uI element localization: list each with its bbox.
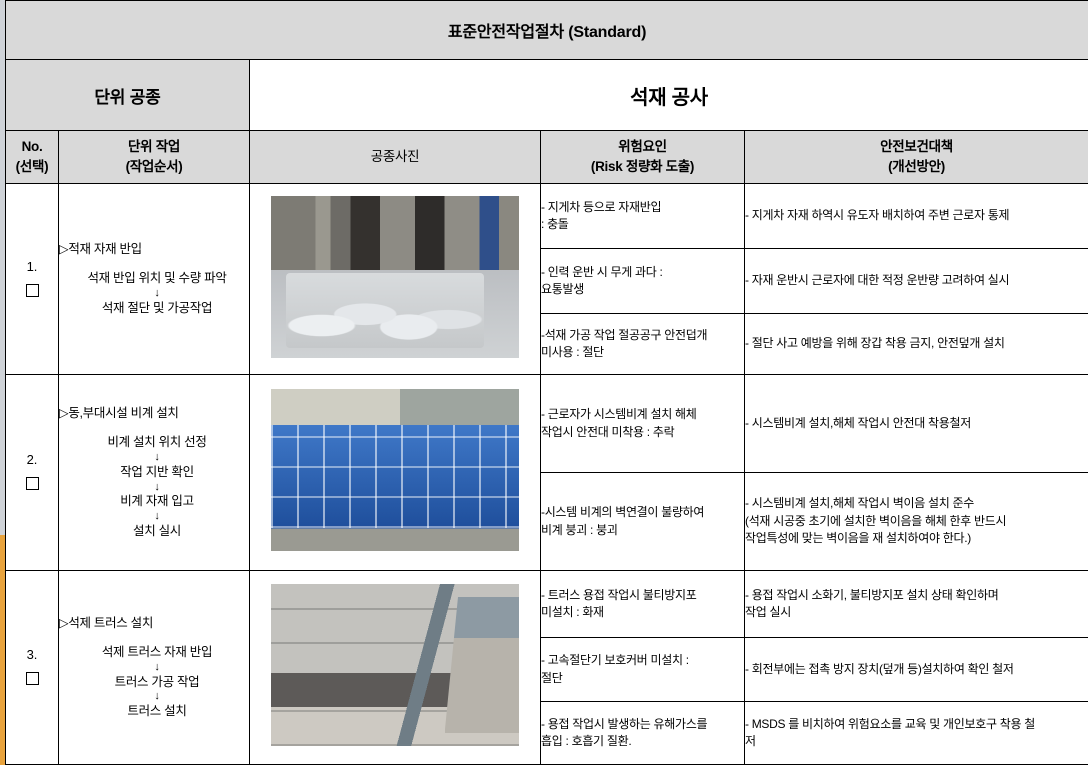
standard-safety-procedure-table: 표준안전작업절차 (Standard) 단위 공종 석재 공사 No. (선택)… bbox=[5, 0, 1088, 765]
row-number: 1. bbox=[6, 259, 58, 274]
step-item: 트러스 설치 bbox=[65, 703, 249, 720]
row-no-2[interactable]: 2. bbox=[6, 375, 59, 571]
process-photo-1 bbox=[250, 184, 541, 375]
col-header-measures-line1: 안전보건대책 bbox=[745, 137, 1088, 157]
measure-item-3-2: - 회전부에는 접촉 방지 장치(덮개 등)설치하여 확인 철저 bbox=[745, 638, 1088, 702]
unit-task-steps-1: ▷적재 자재 반입 석재 반입 위치 및 수량 파악 ↓ 석재 절단 및 가공작… bbox=[59, 184, 250, 375]
col-header-no: No. (선택) bbox=[6, 131, 59, 184]
unit-task-steps-3: ▷석제 트러스 설치 석제 트러스 자재 반입 ↓ 트러스 가공 작업 ↓ 트러… bbox=[59, 571, 250, 765]
measure-line: - 용접 작업시 소화기, 불티방지포 설치 상태 확인하며 bbox=[745, 587, 1088, 604]
measure-line: - 회전부에는 접촉 방지 장치(덮개 등)설치하여 확인 철저 bbox=[745, 661, 1088, 678]
col-header-risk-line1: 위험요인 bbox=[541, 137, 744, 157]
risk-line: - 지게차 등으로 자재반입 bbox=[541, 199, 744, 216]
row-select-checkbox[interactable] bbox=[26, 672, 39, 685]
measure-line: - 시스템비계 설치,해체 작업시 벽이음 설치 준수 bbox=[745, 495, 1088, 512]
risk-line: 작업시 안전대 미착용 : 추락 bbox=[541, 424, 744, 441]
down-arrow-icon: ↓ bbox=[65, 661, 249, 674]
risk-item-2-1: - 근로자가 시스템비계 설치 해체 작업시 안전대 미착용 : 추락 bbox=[541, 375, 745, 473]
down-arrow-icon: ↓ bbox=[65, 287, 249, 300]
spreadsheet-viewport: 표준안전작업절차 (Standard) 단위 공종 석재 공사 No. (선택)… bbox=[0, 0, 1088, 765]
step-item: 트러스 가공 작업 bbox=[65, 674, 249, 691]
risk-line: 미사용 : 절단 bbox=[541, 344, 744, 361]
step-heading: ▷적재 자재 반입 bbox=[59, 241, 249, 258]
measure-line: - 자재 운반시 근로자에 대한 적정 운반량 고려하여 실시 bbox=[745, 272, 1088, 289]
risk-line: - 고속절단기 보호커버 미설치 : bbox=[541, 652, 744, 669]
risk-line: - 트러스 용접 작업시 불티방지포 bbox=[541, 587, 744, 604]
risk-item-1-3: -석재 가공 작업 절공공구 안전덥개 미사용 : 절단 bbox=[541, 314, 745, 375]
step-heading: ▷석제 트러스 설치 bbox=[59, 615, 249, 632]
col-header-risk: 위험요인 (Risk 정량화 도출) bbox=[541, 131, 745, 184]
risk-line: : 충돌 bbox=[541, 216, 744, 233]
row-no-3[interactable]: 3. bbox=[6, 571, 59, 765]
col-header-risk-line2: (Risk 정량화 도출) bbox=[541, 157, 744, 177]
col-header-unit-task-line2: (작업순서) bbox=[59, 157, 249, 177]
row-number: 2. bbox=[6, 452, 58, 467]
risk-line: 흡입 : 호흡기 질환. bbox=[541, 733, 744, 750]
measure-line: 작업 실시 bbox=[745, 604, 1088, 621]
col-header-no-line1: No. bbox=[6, 137, 58, 157]
measure-line: - 시스템비계 설치,해체 작업시 안전대 착용철저 bbox=[745, 415, 1088, 432]
row-number: 3. bbox=[6, 647, 58, 662]
stone-material-pallets-photo bbox=[271, 196, 519, 358]
step-heading: ▷동,부대시설 비계 설치 bbox=[59, 405, 249, 422]
risk-item-3-1: - 트러스 용접 작업시 불티방지포 미설치 : 화재 bbox=[541, 571, 745, 638]
measure-line: - 절단 사고 예방을 위해 장갑 착용 금지, 안전덮개 설치 bbox=[745, 335, 1088, 352]
table-row: 1. ▷적재 자재 반입 석재 반입 위치 및 수량 파악 ↓ 석재 절단 및 … bbox=[6, 184, 1088, 249]
table-row: 2. ▷동,부대시설 비계 설치 비계 설치 위치 선정 ↓ 작업 지반 확인 … bbox=[6, 375, 1088, 473]
measure-line: - 지게차 자재 하역시 유도자 배치하여 주변 근로자 통제 bbox=[745, 207, 1088, 224]
work-name-value: 석재 공사 bbox=[250, 60, 1088, 131]
risk-line: -석재 가공 작업 절공공구 안전덥개 bbox=[541, 327, 744, 344]
measure-item-1-1: - 지게차 자재 하역시 유도자 배치하여 주변 근로자 통제 bbox=[745, 184, 1088, 249]
col-header-measures-line2: (개선방안) bbox=[745, 157, 1088, 177]
col-header-measures: 안전보건대책 (개선방안) bbox=[745, 131, 1088, 184]
step-item: 석재 반입 위치 및 수량 파악 bbox=[65, 270, 249, 287]
unit-process-label: 단위 공종 bbox=[6, 60, 250, 131]
measure-line: (석재 시공중 초기에 설치한 벽이음을 해체 한후 반드시 bbox=[745, 513, 1088, 530]
scroll-position-marker[interactable] bbox=[0, 535, 5, 765]
row-no-1[interactable]: 1. bbox=[6, 184, 59, 375]
step-flow: 석재 반입 위치 및 수량 파악 ↓ 석재 절단 및 가공작업 bbox=[59, 270, 249, 316]
measure-item-1-3: - 절단 사고 예방을 위해 장갑 착용 금지, 안전덮개 설치 bbox=[745, 314, 1088, 375]
col-header-photo: 공종사진 bbox=[250, 131, 541, 184]
step-item: 석재 절단 및 가공작업 bbox=[65, 300, 249, 317]
step-item: 설치 실시 bbox=[65, 523, 249, 540]
col-header-unit-task: 단위 작업 (작업순서) bbox=[59, 131, 250, 184]
page-title: 표준안전작업절차 (Standard) bbox=[6, 1, 1088, 60]
process-photo-2 bbox=[250, 375, 541, 571]
row-select-checkbox[interactable] bbox=[26, 477, 39, 490]
risk-item-1-2: - 인력 운반 시 무게 과다 : 요통발생 bbox=[541, 249, 745, 314]
risk-item-2-2: -시스템 비계의 벽연결이 불량하여 비계 붕괴 : 붕괴 bbox=[541, 473, 745, 571]
step-item: 석제 트러스 자재 반입 bbox=[65, 644, 249, 661]
measure-item-2-2: - 시스템비계 설치,해체 작업시 벽이음 설치 준수 (석재 시공중 초기에 … bbox=[745, 473, 1088, 571]
risk-line: - 근로자가 시스템비계 설치 해체 bbox=[541, 406, 744, 423]
table-row: 3. ▷석제 트러스 설치 석제 트러스 자재 반입 ↓ 트러스 가공 작업 ↓… bbox=[6, 571, 1088, 638]
down-arrow-icon: ↓ bbox=[65, 481, 249, 494]
risk-line: 미설치 : 화재 bbox=[541, 604, 744, 621]
risk-line: 절단 bbox=[541, 670, 744, 687]
risk-line: 요통발생 bbox=[541, 281, 744, 298]
measure-item-2-1: - 시스템비계 설치,해체 작업시 안전대 착용철저 bbox=[745, 375, 1088, 473]
measure-line: 저 bbox=[745, 733, 1088, 750]
col-header-no-line2: (선택) bbox=[6, 157, 58, 177]
step-flow: 석제 트러스 자재 반입 ↓ 트러스 가공 작업 ↓ 트러스 설치 bbox=[59, 644, 249, 720]
down-arrow-icon: ↓ bbox=[65, 690, 249, 703]
col-header-unit-task-line1: 단위 작업 bbox=[59, 137, 249, 157]
row-select-checkbox[interactable] bbox=[26, 284, 39, 297]
risk-item-1-1: - 지게차 등으로 자재반입 : 충돌 bbox=[541, 184, 745, 249]
risk-line: 비계 붕괴 : 붕괴 bbox=[541, 522, 744, 539]
step-flow: 비계 설치 위치 선정 ↓ 작업 지반 확인 ↓ 비계 자재 입고 ↓ 설치 실… bbox=[59, 434, 249, 539]
title-row: 표준안전작업절차 (Standard) bbox=[6, 1, 1088, 60]
risk-item-3-2: - 고속절단기 보호커버 미설치 : 절단 bbox=[541, 638, 745, 702]
unit-process-row: 단위 공종 석재 공사 bbox=[6, 60, 1088, 131]
down-arrow-icon: ↓ bbox=[65, 510, 249, 523]
unit-task-steps-2: ▷동,부대시설 비계 설치 비계 설치 위치 선정 ↓ 작업 지반 확인 ↓ 비… bbox=[59, 375, 250, 571]
measure-item-3-1: - 용접 작업시 소화기, 불티방지포 설치 상태 확인하며 작업 실시 bbox=[745, 571, 1088, 638]
measure-line: - MSDS 를 비치하여 위험요소를 교육 및 개인보호구 착용 철 bbox=[745, 716, 1088, 733]
risk-line: - 용접 작업시 발생하는 유해가스를 bbox=[541, 716, 744, 733]
process-photo-3 bbox=[250, 571, 541, 765]
measure-item-3-3: - MSDS 를 비치하여 위험요소를 교육 및 개인보호구 착용 철 저 bbox=[745, 702, 1088, 765]
risk-item-3-3: - 용접 작업시 발생하는 유해가스를 흡입 : 호흡기 질환. bbox=[541, 702, 745, 765]
measure-line: 작업특성에 맞는 벽이음을 재 설치하여야 한다.) bbox=[745, 530, 1088, 547]
risk-line: - 인력 운반 시 무게 과다 : bbox=[541, 264, 744, 281]
step-item: 작업 지반 확인 bbox=[65, 464, 249, 481]
measure-item-1-2: - 자재 운반시 근로자에 대한 적정 운반량 고려하여 실시 bbox=[745, 249, 1088, 314]
truss-installation-photo bbox=[271, 584, 519, 746]
risk-line: -시스템 비계의 벽연결이 불량하여 bbox=[541, 504, 744, 521]
step-item: 비계 설치 위치 선정 bbox=[65, 434, 249, 451]
blue-net-scaffold-photo bbox=[271, 389, 519, 551]
left-scroll-gutter[interactable] bbox=[0, 0, 5, 765]
step-item: 비계 자재 입고 bbox=[65, 493, 249, 510]
column-header-row: No. (선택) 단위 작업 (작업순서) 공종사진 위험요인 (Risk 정량… bbox=[6, 131, 1088, 184]
down-arrow-icon: ↓ bbox=[65, 451, 249, 464]
